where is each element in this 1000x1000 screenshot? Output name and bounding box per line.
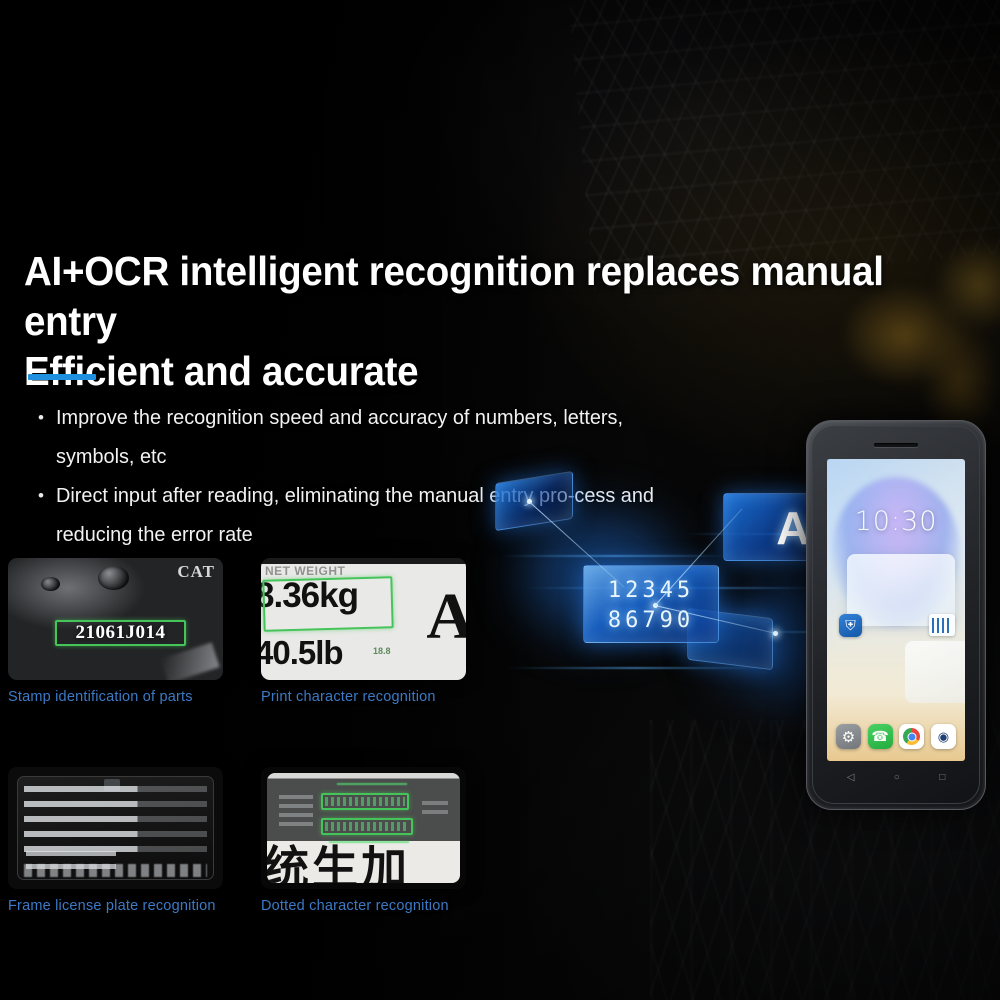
- shield-app-icon[interactable]: ⛨: [839, 614, 862, 637]
- sample-thumbnail-stamp: CAT 21061J014: [8, 558, 223, 680]
- dot-matrix-text: [325, 822, 409, 831]
- device-screen[interactable]: 10:30 ⛨ ⚙ ☎: [827, 459, 965, 761]
- gear-glyph: ⚙: [842, 728, 855, 746]
- dotted-panel: 统生加: [267, 773, 460, 883]
- bullet-dot-icon: •: [26, 398, 56, 476]
- sample-caption: Stamp identification of parts: [8, 689, 223, 705]
- dotted-dim-block: [422, 801, 448, 817]
- camera-glyph: ◉: [938, 729, 949, 745]
- chrome-glyph: [903, 728, 920, 745]
- ocr-detection-box: 21061J014: [55, 620, 186, 646]
- camera-icon[interactable]: ◉: [931, 724, 956, 749]
- sample-thumbnail-plate: [8, 767, 223, 889]
- part-brand-label: CAT: [177, 562, 215, 582]
- scan-line: [337, 783, 407, 785]
- shield-glyph: ⛨: [839, 614, 862, 637]
- chrome-icon[interactable]: [899, 724, 924, 749]
- license-plate-frame: [17, 776, 214, 880]
- barcode-glyph: [932, 618, 952, 633]
- sample-card-plate: Frame license plate recognition: [8, 767, 223, 914]
- bullet-dot-icon: •: [26, 476, 56, 554]
- headline-line-2: Efficient and accurate: [24, 346, 926, 396]
- android-nav-bar: ◁ ○ □: [827, 767, 965, 789]
- headline-line-1: AI+OCR intelligent recognition replaces …: [24, 246, 926, 346]
- ocr-detected-text: 21061J014: [57, 622, 184, 644]
- phone-glyph: ☎: [871, 728, 888, 745]
- label-small-text: 18.8: [373, 646, 391, 656]
- earpiece-speaker: [874, 443, 918, 447]
- app-dock: ⚙ ☎ ◉: [836, 724, 956, 749]
- handheld-terminal-device: 10:30 ⛨ ⚙ ☎: [806, 420, 986, 810]
- sample-card-stamp: CAT 21061J014 Stamp identification of pa…: [8, 558, 223, 705]
- wallpaper-card-secondary: [905, 641, 965, 703]
- device-bezel: 10:30 ⛨ ⚙ ☎: [812, 426, 980, 804]
- lcd-line-1: 12345: [584, 578, 718, 603]
- dotted-dim-block: [279, 795, 313, 829]
- part-hole-icon: [41, 577, 60, 591]
- hud-digit-panel: 12345 86790: [583, 565, 719, 643]
- settings-icon[interactable]: ⚙: [836, 724, 861, 749]
- hud-streak: [500, 555, 730, 557]
- hud-streak: [505, 667, 765, 669]
- sample-caption: Frame license plate recognition: [8, 898, 223, 914]
- phone-icon[interactable]: ☎: [868, 724, 893, 749]
- metal-glint: [160, 642, 219, 680]
- home-button[interactable]: ○: [894, 773, 900, 783]
- ocr-detection-box: [321, 818, 413, 835]
- lcd-line-2: 86790: [584, 608, 718, 633]
- sample-row-bottom: Frame license plate recognition 统生加 Dott…: [8, 767, 488, 914]
- part-hole-icon: [98, 566, 129, 590]
- dotted-hanzi-text: 统生加: [267, 839, 460, 883]
- sample-card-print: NET WEIGHT 8.36kg 40.5lb 18.8 A Print ch…: [261, 558, 466, 705]
- sample-gallery: CAT 21061J014 Stamp identification of pa…: [8, 558, 488, 914]
- hud-side-panel: [495, 471, 573, 531]
- plate-bottom-strip: [24, 864, 207, 877]
- ocr-detection-box: [321, 793, 409, 810]
- plate-text-lines: [24, 786, 207, 861]
- sample-card-dotted: 统生加 Dotted character recognition: [261, 767, 466, 914]
- sample-caption: Dotted character recognition: [261, 898, 466, 914]
- sample-thumbnail-print: NET WEIGHT 8.36kg 40.5lb 18.8 A: [261, 558, 466, 680]
- accent-divider: [28, 374, 96, 380]
- dot-matrix-text: [325, 797, 405, 806]
- sample-caption: Print character recognition: [261, 689, 466, 705]
- page-title: AI+OCR intelligent recognition replaces …: [24, 246, 926, 396]
- back-button[interactable]: ◁: [847, 773, 855, 783]
- promo-banner: AI+OCR intelligent recognition replaces …: [0, 0, 1000, 1000]
- ocr-detection-box: [262, 576, 393, 632]
- label-side-letter: A: [426, 584, 466, 650]
- sample-thumbnail-dotted: 统生加: [261, 767, 466, 889]
- lockscreen-clock: 10:30: [827, 506, 965, 537]
- label-weight-lb: 40.5lb: [261, 634, 343, 672]
- sample-row-top: CAT 21061J014 Stamp identification of pa…: [8, 558, 488, 705]
- recents-button[interactable]: □: [939, 773, 945, 783]
- barcode-scanner-icon[interactable]: [929, 614, 955, 636]
